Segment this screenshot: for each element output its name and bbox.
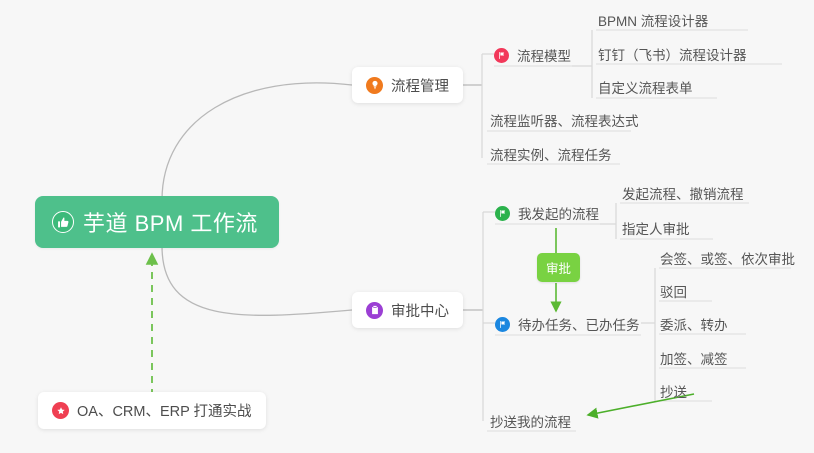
- green-flag-icon: [495, 206, 510, 221]
- leaf-label: 钉钉（飞书）流程设计器: [598, 44, 747, 64]
- leaf-assigned-approver[interactable]: 指定人审批: [622, 217, 690, 239]
- link-root-to-process-management: [162, 83, 352, 200]
- leaf-label: 自定义流程表单: [598, 77, 693, 97]
- lightbulb-icon: [366, 77, 383, 94]
- leaf-process-listener[interactable]: 流程监听器、流程表达式: [490, 109, 639, 131]
- node-integration-note[interactable]: OA、CRM、ERP 打通实战: [38, 392, 266, 429]
- mindmap-canvas: 待办任务 --> 芋道 BPM 工作流 流程管理 流程: [0, 0, 814, 453]
- star-icon: [52, 402, 69, 419]
- leaf-cc-to-me[interactable]: 抄送我的流程: [490, 410, 571, 432]
- node-my-initiated-flows[interactable]: 我发起的流程: [495, 202, 599, 224]
- node-label: 流程模型: [517, 45, 571, 65]
- node-todo-done-tasks[interactable]: 待办任务、已办任务: [495, 313, 640, 335]
- leaf-add-remove-sign[interactable]: 加签、减签: [660, 347, 728, 369]
- leaf-custom-form[interactable]: 自定义流程表单: [598, 76, 693, 98]
- node-label: 我发起的流程: [518, 203, 599, 223]
- leaf-start-cancel-flow[interactable]: 发起流程、撤销流程: [622, 182, 744, 204]
- leaf-reject[interactable]: 驳回: [660, 280, 687, 302]
- leaf-dingtalk-designer[interactable]: 钉钉（飞书）流程设计器: [598, 43, 747, 65]
- leaf-cc[interactable]: 抄送: [660, 380, 687, 402]
- node-label: 待办任务、已办任务: [518, 314, 640, 334]
- link-root-to-approval-center: [162, 246, 352, 315]
- clipboard-icon: [366, 302, 383, 319]
- leaf-label: 流程实例、流程任务: [490, 144, 612, 164]
- leaf-label: 委派、转办: [660, 314, 728, 334]
- red-flag-icon: [494, 48, 509, 63]
- leaf-label: 发起流程、撤销流程: [622, 183, 744, 203]
- edge-label-approval: 审批: [537, 253, 580, 282]
- leaf-countersign[interactable]: 会签、或签、依次审批: [660, 247, 795, 269]
- leaf-delegate-transfer[interactable]: 委派、转办: [660, 313, 728, 335]
- leaf-label: 驳回: [660, 281, 687, 301]
- leaf-process-instance[interactable]: 流程实例、流程任务: [490, 143, 612, 165]
- blue-flag-icon: [495, 317, 510, 332]
- node-label: 审批中心: [391, 300, 449, 321]
- node-label: 流程管理: [391, 75, 449, 96]
- node-process-model[interactable]: 流程模型: [494, 44, 571, 66]
- leaf-label: 抄送: [660, 381, 687, 401]
- leaf-label: 抄送我的流程: [490, 411, 571, 431]
- leaf-label: 会签、或签、依次审批: [660, 248, 795, 268]
- leaf-bpmn-designer[interactable]: BPMN 流程设计器: [598, 9, 708, 31]
- root-label: 芋道 BPM 工作流: [83, 206, 258, 238]
- leaf-label: BPMN 流程设计器: [598, 10, 708, 30]
- root-node[interactable]: 芋道 BPM 工作流: [35, 196, 279, 248]
- leaf-label: 流程监听器、流程表达式: [490, 110, 639, 130]
- node-label: OA、CRM、ERP 打通实战: [77, 400, 252, 421]
- node-approval-center[interactable]: 审批中心: [352, 292, 463, 328]
- leaf-label: 指定人审批: [622, 218, 690, 238]
- node-process-management[interactable]: 流程管理: [352, 67, 463, 103]
- leaf-label: 加签、减签: [660, 348, 728, 368]
- thumbs-up-icon: [52, 211, 74, 233]
